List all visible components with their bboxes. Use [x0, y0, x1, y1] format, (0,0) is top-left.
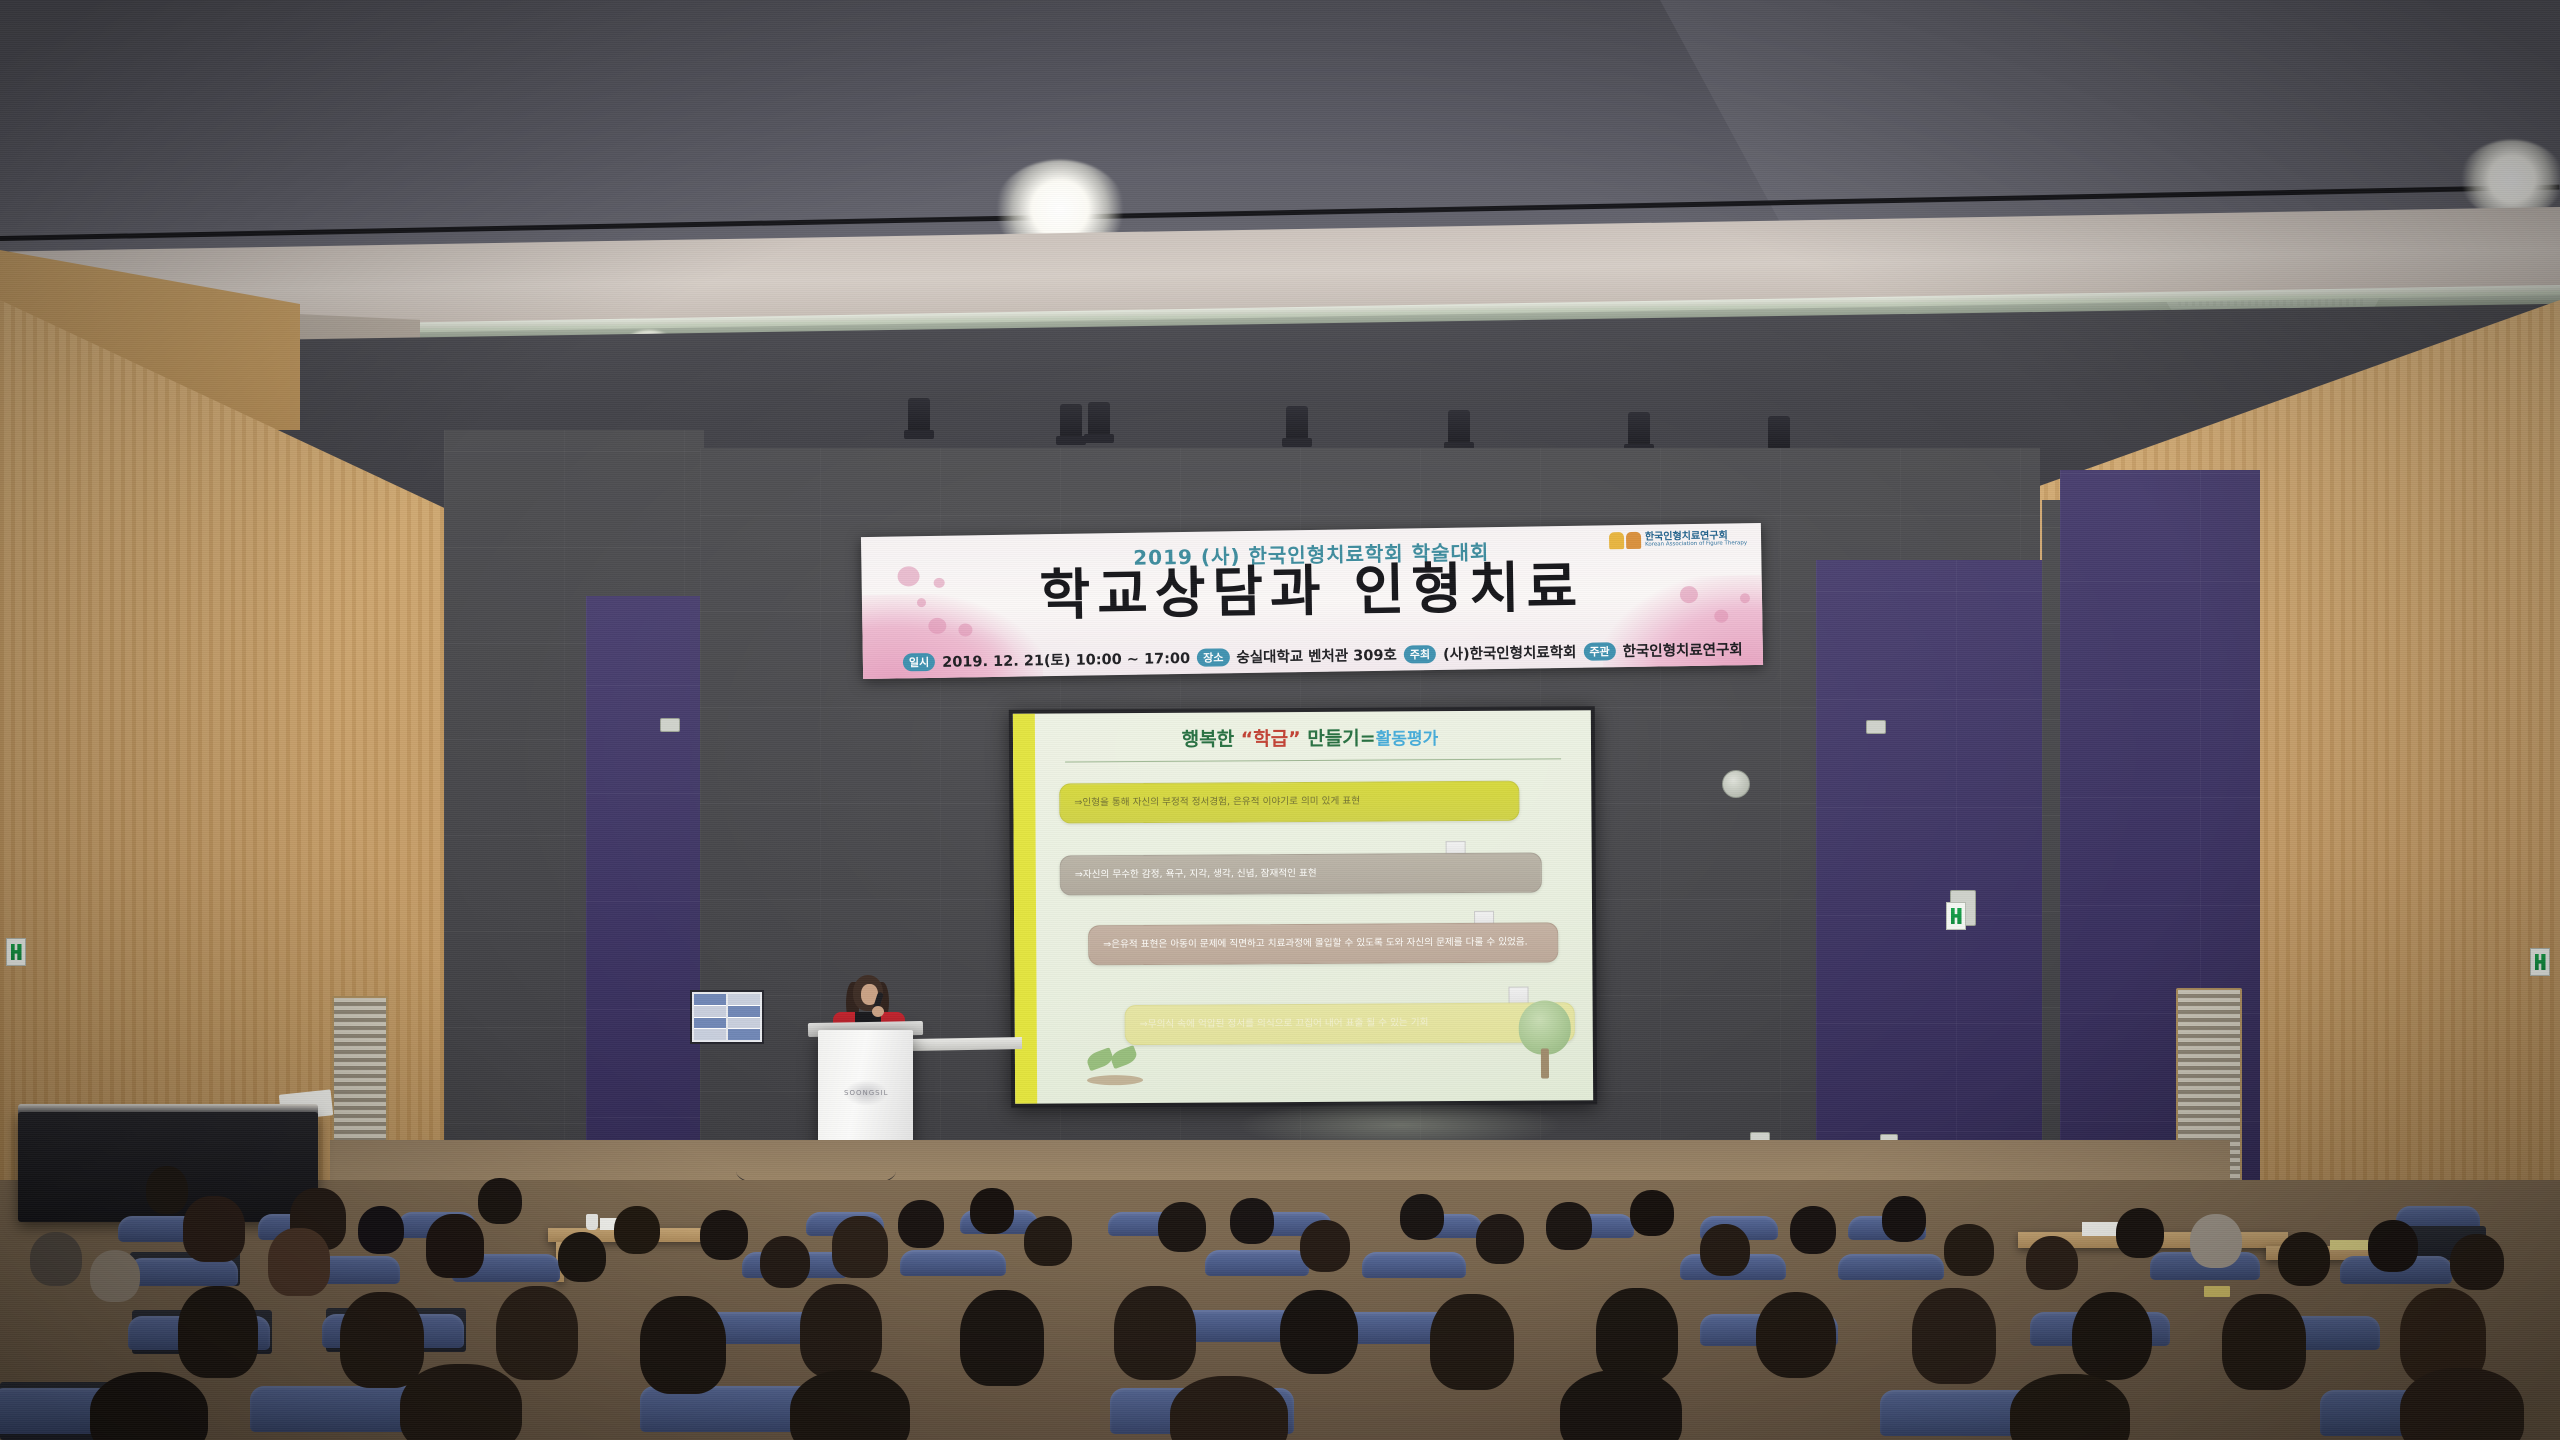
- audience-head: [1560, 1370, 1682, 1440]
- wall-access-panel: [660, 718, 680, 732]
- audience-head: [898, 1200, 944, 1248]
- audience-head: [178, 1286, 258, 1378]
- sprout-illustration-icon: [1085, 1035, 1145, 1085]
- seat[interactable]: [1362, 1252, 1466, 1278]
- stage-spotlight-icon: [1628, 412, 1650, 446]
- audience-head: [2450, 1234, 2504, 1290]
- slide-divider: [1065, 758, 1561, 762]
- audience-head: [614, 1206, 660, 1254]
- slide-box-2: ⇒자신의 무수한 감정, 욕구, 지각, 생각, 신념, 잠재적인 표현: [1060, 853, 1542, 896]
- banner-label-organizer: 주관: [1583, 642, 1616, 661]
- slide-title-part1: 행복한: [1182, 728, 1241, 750]
- audience-head: [1114, 1286, 1196, 1380]
- stage-spotlight-icon: [1448, 410, 1470, 444]
- event-banner: 2019 (사) 한국인형치료학회 학술대회 학교상담과 인형치료 일시 201…: [861, 523, 1763, 679]
- slide-box-1: ⇒인형을 통해 자신의 부정적 정서경험, 은유적 이야기로 의미 있게 표현: [1059, 781, 1519, 824]
- audience-head: [960, 1290, 1044, 1386]
- audience-head: [790, 1370, 910, 1440]
- audience-head: [146, 1166, 188, 1214]
- audience-head: [640, 1296, 726, 1394]
- audience-head: [970, 1188, 1014, 1234]
- seat-number-tag: [2204, 1286, 2230, 1297]
- audience-head: [800, 1284, 882, 1378]
- presenter-hand: [872, 1006, 884, 1017]
- audience-head: [1596, 1288, 1678, 1382]
- audience-head: [1024, 1216, 1072, 1266]
- audience-head: [478, 1178, 522, 1224]
- audience-head: [1170, 1376, 1288, 1440]
- audience-head: [30, 1232, 82, 1286]
- audience-head: [1476, 1214, 1524, 1264]
- wall-clock-icon: [1722, 770, 1750, 798]
- audience-head: [183, 1196, 245, 1262]
- audience-head: [2368, 1220, 2418, 1272]
- paper-cup: [586, 1214, 598, 1230]
- audience-head: [700, 1210, 748, 1260]
- audience-head: [2116, 1208, 2164, 1258]
- audience-head: [400, 1364, 522, 1440]
- audience-head: [760, 1236, 810, 1288]
- audience-head: [1944, 1224, 1994, 1276]
- audience-head: [2010, 1374, 2130, 1440]
- stage-spotlight-icon: [908, 398, 930, 432]
- auditorium-photo: 2019 (사) 한국인형치료학회 학술대회 학교상담과 인형치료 일시 201…: [0, 0, 2560, 1440]
- banner-label-date: 일시: [903, 652, 936, 671]
- audience-head: [1630, 1190, 1674, 1236]
- slide-title-quoted: “학급”: [1241, 728, 1301, 750]
- seat[interactable]: [128, 1258, 238, 1286]
- banner-value-organizer: 한국인형치료연구회: [1622, 638, 1742, 661]
- audience-head: [1430, 1294, 1514, 1390]
- association-logo: 한국인형치료연구회 Korean Association of Figure T…: [1609, 530, 1747, 549]
- audience-head: [1756, 1292, 1836, 1378]
- audience-head: [1882, 1196, 1926, 1242]
- audience-head: [426, 1214, 484, 1278]
- audience-head: [1230, 1198, 1274, 1244]
- stage-spotlight-icon: [1768, 416, 1790, 450]
- audience-head: [2026, 1236, 2078, 1290]
- slide-title-highlight: 활동평가: [1376, 729, 1439, 749]
- acoustic-panel-right: [1816, 560, 2076, 1240]
- audience-head: [1280, 1290, 1358, 1374]
- slide-box-3: ⇒은유적 표현은 아동이 문제에 직면하고 치료과정에 몰입할 수 있도록 도와…: [1088, 922, 1558, 965]
- seat[interactable]: [900, 1250, 1006, 1276]
- stage-spotlight-icon: [1088, 402, 1110, 436]
- audience-head: [496, 1286, 578, 1380]
- running-person-icon: [1951, 908, 1962, 924]
- figure-therapy-icon: [1609, 532, 1641, 550]
- audience-head: [1546, 1202, 1592, 1250]
- exit-sign-left: [6, 938, 26, 966]
- audience-head: [2072, 1292, 2152, 1380]
- audience-head: [1300, 1220, 1350, 1272]
- wall-access-panel: [1866, 720, 1886, 734]
- slide-box-4: ⇒무의식 속에 억압된 정서를 의식으로 끄집어 내어 표출 될 수 있는 기회: [1125, 1002, 1575, 1044]
- banner-label-place: 장소: [1197, 648, 1230, 667]
- audience-head: [1158, 1202, 1206, 1252]
- stage-poster-board: [690, 990, 764, 1044]
- audience-head: [1700, 1224, 1750, 1276]
- audience-head: [2190, 1214, 2242, 1268]
- banner-value-place: 숭실대학교 벤처관 309호: [1236, 644, 1397, 668]
- presentation-slide: 행복한 “학급” 만들기=활동평가 ⇒인형을 통해 자신의 부정적 정서경험, …: [1013, 710, 1593, 1104]
- seat[interactable]: [1838, 1254, 1944, 1280]
- audience-head: [268, 1228, 330, 1296]
- audience-head: [2278, 1232, 2330, 1286]
- running-person-icon: [11, 944, 22, 960]
- banner-value-host: (사)한국인형치료학회: [1443, 641, 1577, 664]
- audience-head: [1912, 1288, 1996, 1384]
- exit-sign-center-right: [1946, 902, 1966, 930]
- audience-head: [2400, 1368, 2524, 1440]
- audience-head: [340, 1292, 424, 1388]
- exit-sign-right: [2530, 948, 2550, 976]
- seat[interactable]: [1205, 1250, 1309, 1276]
- podium-side-shelf: [912, 1037, 1022, 1051]
- logo-english-name: Korean Association of Figure Therapy: [1645, 541, 1747, 548]
- banner-value-date: 2019. 12. 21(토) 10:00 ~ 17:00: [942, 647, 1190, 672]
- audience-head: [358, 1206, 404, 1254]
- stage-spotlight-icon: [1286, 406, 1308, 440]
- stage-spotlight-icon: [1060, 404, 1082, 438]
- tree-illustration-icon: [1519, 1000, 1571, 1078]
- banner-label-host: 주최: [1404, 645, 1437, 664]
- podium-emblem: SOONGSIL: [844, 1080, 888, 1106]
- audience-head: [1790, 1206, 1836, 1254]
- audience-head: [832, 1216, 888, 1278]
- running-person-icon: [2535, 954, 2546, 970]
- slide-title: 행복한 “학급” 만들기=활동평가: [1043, 722, 1577, 752]
- audience-head: [558, 1232, 606, 1282]
- audience-head: [90, 1372, 208, 1440]
- audience-head: [1400, 1194, 1444, 1240]
- slide-title-part2: 만들기=: [1301, 728, 1376, 750]
- audience-head: [90, 1250, 140, 1302]
- audience-head: [2222, 1294, 2306, 1390]
- projection-screen: 행복한 “학급” 만들기=활동평가 ⇒인형을 통해 자신의 부정적 정서경험, …: [1009, 706, 1597, 1108]
